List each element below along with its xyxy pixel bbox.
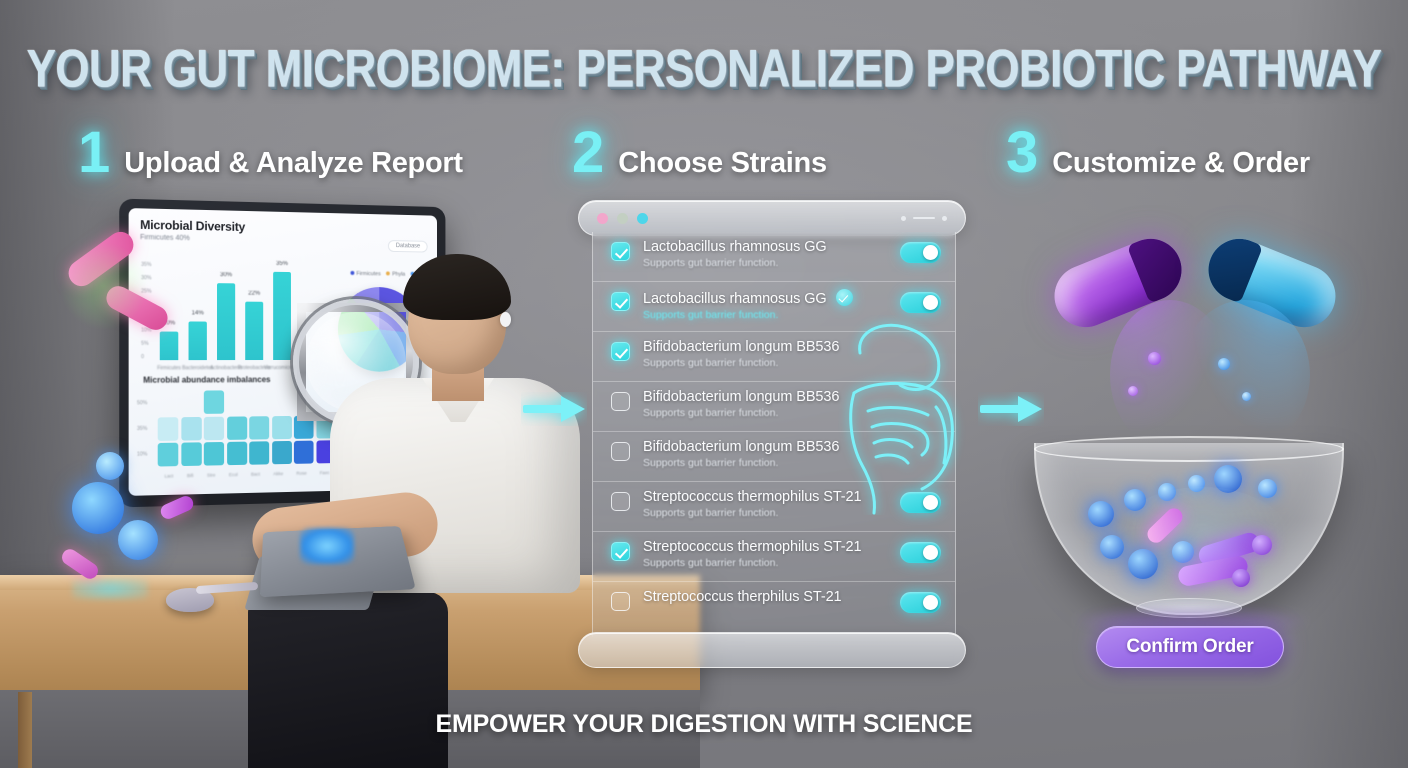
strain-row[interactable]: Lactobacillus rhamnosus GGSupports gut b…: [593, 232, 955, 282]
window-controls: [597, 213, 648, 224]
strain-text: Streptococcus thermophilus ST-21Supports…: [643, 489, 900, 519]
strain-row[interactable]: Lactobacillus rhamnosus GGSupports gut b…: [593, 282, 955, 332]
bowl-sparkle-field: [1112, 487, 1292, 597]
step-label-3: Customize & Order: [1052, 147, 1310, 180]
strain-text: Streptococcus thermophilus ST-21Supports…: [643, 539, 900, 569]
strain-row[interactable]: Bifidobacterium longum BB536Supports gut…: [593, 382, 955, 432]
strain-text: Bifidobacterium longum BB536Supports gut…: [643, 339, 900, 369]
strain-name: Lactobacillus rhamnosus GG: [643, 239, 900, 255]
strain-checkbox[interactable]: [611, 392, 630, 411]
strain-checkbox[interactable]: [611, 542, 630, 561]
window-maximize-icon[interactable]: [913, 217, 935, 220]
strain-text: Lactobacillus rhamnosus GGSupports gut b…: [643, 239, 900, 269]
arrow-step2-to-step3-icon: [978, 392, 1044, 426]
particle-stream-blue: [1180, 300, 1310, 450]
heatmap-x-labels: LactBifi StreEcol BactAkke RoseFaec: [158, 470, 336, 479]
dashboard-filter-pill[interactable]: Database: [388, 240, 427, 253]
strain-verified-check-icon: [836, 289, 853, 306]
step-number-2: 2: [572, 124, 604, 182]
footer-tagline: Empower Your Digestion with Science: [0, 710, 1408, 739]
particle-blue-2: [1242, 392, 1251, 401]
page-title: Your Gut Microbiome: Personalized Probio…: [0, 40, 1408, 100]
bacteria-green-glow: [56, 238, 152, 334]
step-header-2: 2 Choose Strains: [572, 124, 827, 182]
bowl-microbe-1: [1088, 501, 1114, 527]
particle-purple-1: [1148, 352, 1161, 365]
person-earbud: [500, 312, 511, 327]
strain-row[interactable]: Streptococcus therphilus ST-21: [593, 582, 955, 632]
heatmap-y-labels: 50% 35% 10%: [137, 391, 147, 467]
person-legs: [248, 592, 448, 768]
strain-text: Lactobacillus rhamnosus GGSupports gut b…: [643, 289, 900, 321]
strain-list: Lactobacillus rhamnosus GGSupports gut b…: [592, 232, 956, 637]
strain-toggle[interactable]: [900, 292, 941, 313]
strain-name: Streptococcus thermophilus ST-21: [643, 489, 900, 505]
particle-blue-1: [1218, 358, 1230, 370]
strain-name: Streptococcus therphilus ST-21: [643, 589, 900, 605]
bar-4: 35%Verrucomicrobia: [273, 271, 291, 360]
arrow-step1-to-step2-icon: [521, 392, 587, 426]
bacteria-cluster-blue-3: [96, 452, 124, 480]
strain-description: Supports gut barrier function.: [643, 407, 900, 419]
bowl-microbe-6: [1258, 479, 1277, 498]
strain-checkbox[interactable]: [611, 592, 630, 611]
strain-panel-titlebar: [578, 200, 966, 236]
window-dot-grey[interactable]: [617, 213, 628, 224]
window-minimize-icon[interactable]: [901, 216, 906, 221]
step-header-1: 1 Upload & Analyze Report: [78, 124, 463, 182]
bar-3: 22%Proteobacteria: [245, 302, 263, 360]
strain-toggle[interactable]: [900, 492, 941, 513]
strain-description: Supports gut barrier function.: [643, 257, 900, 269]
strain-toggle[interactable]: [900, 542, 941, 563]
window-close-icon[interactable]: [942, 216, 947, 221]
strain-row[interactable]: Bifidobacterium longum BB536Supports gut…: [593, 432, 955, 482]
step-label-2: Choose Strains: [618, 147, 827, 180]
bar-1: 14%Bacteroidetes: [189, 321, 207, 360]
window-right-controls: [901, 216, 947, 221]
strain-row[interactable]: Streptococcus thermophilus ST-21Supports…: [593, 532, 955, 582]
step-header-3: 3 Customize & Order: [1006, 124, 1310, 182]
particle-purple-2: [1128, 386, 1138, 396]
heatmap-title: Microbial abundance imbalances: [143, 375, 270, 385]
strain-checkbox[interactable]: [611, 492, 630, 511]
strain-toggle[interactable]: [900, 592, 941, 613]
window-dot-pink[interactable]: [597, 213, 608, 224]
desk-accent-glow: [72, 578, 148, 600]
strain-checkbox[interactable]: [611, 342, 630, 361]
strain-name: Bifidobacterium longum BB536: [643, 389, 900, 405]
window-dot-cyan[interactable]: [637, 213, 648, 224]
confirm-order-button[interactable]: Confirm Order: [1096, 626, 1284, 668]
strain-text: Streptococcus therphilus ST-21: [643, 589, 900, 605]
step-label-1: Upload & Analyze Report: [124, 147, 462, 180]
strain-row[interactable]: Streptococcus thermophilus ST-21Supports…: [593, 482, 955, 532]
step-number-1: 1: [78, 124, 110, 182]
strain-name: Bifidobacterium longum BB536: [643, 339, 900, 355]
legend-item-1: Phyla: [386, 271, 405, 277]
bacteria-cluster-blue-2: [118, 520, 158, 560]
strain-text: Bifidobacterium longum BB536Supports gut…: [643, 389, 900, 419]
strain-description: Supports gut barrier function.: [643, 507, 900, 519]
strain-description: Supports gut barrier function.: [643, 457, 900, 469]
strain-name: Bifidobacterium longum BB536: [643, 439, 900, 455]
bar-chart: 10%Firmicutes 14%Bacteroidetes 30%Actino…: [160, 262, 316, 360]
strain-name: Streptococcus thermophilus ST-21: [643, 539, 900, 555]
bar-0: 10%Firmicutes: [160, 332, 179, 360]
strain-toggle[interactable]: [900, 242, 941, 263]
strain-text: Bifidobacterium longum BB536Supports gut…: [643, 439, 900, 469]
tablet-screen-glow: [300, 528, 354, 564]
strain-name: Lactobacillus rhamnosus GG: [643, 289, 900, 307]
strain-description: Supports gut barrier function.: [643, 357, 900, 369]
strain-description: Supports gut barrier function.: [643, 309, 900, 321]
bacteria-cluster-blue-1: [72, 482, 124, 534]
step-number-3: 3: [1006, 124, 1038, 182]
legend-item-0: Firmicutes: [351, 271, 381, 277]
strain-checkbox[interactable]: [611, 442, 630, 461]
bar-2: 30%Actinobacteria: [217, 283, 235, 360]
strain-row[interactable]: Bifidobacterium longum BB536Supports gut…: [593, 332, 955, 382]
strain-checkbox[interactable]: [611, 292, 630, 311]
strain-checkbox[interactable]: [611, 242, 630, 261]
strain-description: Supports gut barrier function.: [643, 557, 900, 569]
strain-panel-footer: [578, 632, 966, 668]
